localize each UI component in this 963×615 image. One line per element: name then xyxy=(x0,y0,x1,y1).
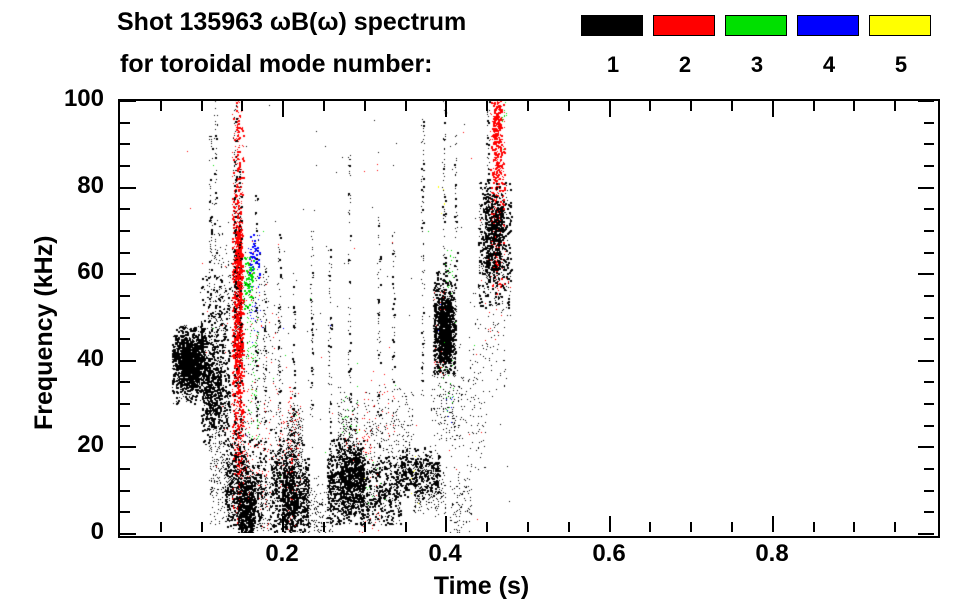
y-minor-tick xyxy=(120,143,130,145)
x-minor-tick xyxy=(405,522,407,532)
y-major-tick xyxy=(120,446,136,448)
y-major-tick xyxy=(120,187,136,189)
y-major-tick xyxy=(120,100,136,102)
y-major-tick xyxy=(120,533,136,535)
x-minor-tick xyxy=(649,522,651,532)
y-minor-tick-right xyxy=(924,490,934,492)
x-tick-label-0.6: 0.6 xyxy=(564,540,654,568)
legend-label-3: 3 xyxy=(725,52,789,78)
y-minor-tick-right xyxy=(924,252,934,254)
x-minor-tick-top xyxy=(649,101,651,111)
x-minor-tick-top xyxy=(731,101,733,111)
x-minor-tick-top xyxy=(241,101,243,111)
y-minor-tick xyxy=(120,468,130,470)
legend-item-1: 1 xyxy=(581,15,645,36)
x-minor-tick-top xyxy=(160,101,162,111)
x-minor-tick xyxy=(486,522,488,532)
x-minor-tick-top xyxy=(690,101,692,111)
y-minor-tick xyxy=(120,208,130,210)
legend-swatch-4 xyxy=(797,15,859,36)
y-minor-tick xyxy=(120,295,130,297)
legend-swatch-5 xyxy=(869,15,931,36)
y-minor-tick-right xyxy=(924,208,934,210)
x-minor-tick xyxy=(527,522,529,532)
y-minor-tick xyxy=(120,338,130,340)
legend-swatch-2 xyxy=(653,15,715,36)
y-minor-tick-right xyxy=(924,295,934,297)
legend-label-2: 2 xyxy=(653,52,717,78)
x-minor-tick xyxy=(364,522,366,532)
legend-item-4: 4 xyxy=(797,15,861,36)
x-minor-tick-top xyxy=(405,101,407,111)
y-major-tick-right xyxy=(918,273,934,275)
x-minor-tick xyxy=(201,522,203,532)
spectrogram-figure: Shot 135963 ωB(ω) spectrum for toroidal … xyxy=(0,0,963,615)
legend-swatch-3 xyxy=(725,15,787,36)
legend: 12345 xyxy=(581,15,931,90)
x-major-tick xyxy=(609,516,611,532)
y-minor-tick-right xyxy=(924,338,934,340)
x-major-tick-top xyxy=(282,101,284,117)
x-minor-tick xyxy=(894,522,896,532)
x-minor-tick-top xyxy=(894,101,896,111)
x-major-tick xyxy=(282,516,284,532)
y-major-tick-right xyxy=(918,187,934,189)
page-title: Shot 135963 ωB(ω) spectrum xyxy=(117,8,466,37)
y-minor-tick xyxy=(120,511,130,513)
y-tick-label-20: 20 xyxy=(34,431,104,459)
x-major-tick-top xyxy=(609,101,611,117)
x-minor-tick xyxy=(568,522,570,532)
y-minor-tick xyxy=(120,122,130,124)
legend-item-3: 3 xyxy=(725,15,789,36)
x-minor-tick xyxy=(690,522,692,532)
x-major-tick-top xyxy=(772,101,774,117)
legend-label-5: 5 xyxy=(869,52,933,78)
x-major-tick-top xyxy=(445,101,447,117)
plot-frame xyxy=(118,99,940,538)
y-major-tick-right xyxy=(918,533,934,535)
x-minor-tick-top xyxy=(486,101,488,111)
y-major-tick-right xyxy=(918,360,934,362)
legend-swatch-1 xyxy=(581,15,643,36)
x-minor-tick-top xyxy=(201,101,203,111)
y-major-tick xyxy=(120,360,136,362)
x-major-tick xyxy=(772,516,774,532)
y-minor-tick-right xyxy=(924,403,934,405)
x-tick-label-0.8: 0.8 xyxy=(727,540,817,568)
x-minor-tick xyxy=(160,522,162,532)
x-tick-label-0.2: 0.2 xyxy=(237,540,327,568)
y-minor-tick xyxy=(120,317,130,319)
y-axis-label: Frequency (kHz) xyxy=(30,236,59,430)
y-major-tick xyxy=(120,273,136,275)
x-minor-tick xyxy=(731,522,733,532)
y-major-tick-right xyxy=(918,100,934,102)
y-minor-tick xyxy=(120,381,130,383)
x-minor-tick-top xyxy=(813,101,815,111)
y-minor-tick xyxy=(120,165,130,167)
x-major-tick xyxy=(445,516,447,532)
x-minor-tick-top xyxy=(568,101,570,111)
x-minor-tick xyxy=(813,522,815,532)
y-minor-tick-right xyxy=(924,165,934,167)
y-minor-tick-right xyxy=(924,230,934,232)
y-minor-tick xyxy=(120,490,130,492)
y-minor-tick xyxy=(120,403,130,405)
y-minor-tick-right xyxy=(924,468,934,470)
y-minor-tick-right xyxy=(924,143,934,145)
x-minor-tick-top xyxy=(527,101,529,111)
y-minor-tick xyxy=(120,425,130,427)
y-major-tick-right xyxy=(918,446,934,448)
x-axis-label: Time (s) xyxy=(0,572,963,601)
y-minor-tick-right xyxy=(924,317,934,319)
title-subline: for toroidal mode number: xyxy=(120,50,433,79)
x-minor-tick-top xyxy=(853,101,855,111)
y-minor-tick-right xyxy=(924,425,934,427)
legend-label-4: 4 xyxy=(797,52,861,78)
legend-item-5: 5 xyxy=(869,15,933,36)
x-minor-tick xyxy=(241,522,243,532)
x-minor-tick xyxy=(323,522,325,532)
y-tick-label-0: 0 xyxy=(34,518,104,546)
y-tick-label-100: 100 xyxy=(34,85,104,113)
y-minor-tick xyxy=(120,230,130,232)
x-minor-tick-top xyxy=(323,101,325,111)
y-tick-label-80: 80 xyxy=(34,172,104,200)
y-minor-tick-right xyxy=(924,122,934,124)
y-minor-tick xyxy=(120,252,130,254)
y-minor-tick-right xyxy=(924,511,934,513)
legend-label-1: 1 xyxy=(581,52,645,78)
x-minor-tick xyxy=(853,522,855,532)
x-minor-tick-top xyxy=(364,101,366,111)
x-tick-label-0.4: 0.4 xyxy=(400,540,490,568)
legend-item-2: 2 xyxy=(653,15,717,36)
y-minor-tick-right xyxy=(924,381,934,383)
